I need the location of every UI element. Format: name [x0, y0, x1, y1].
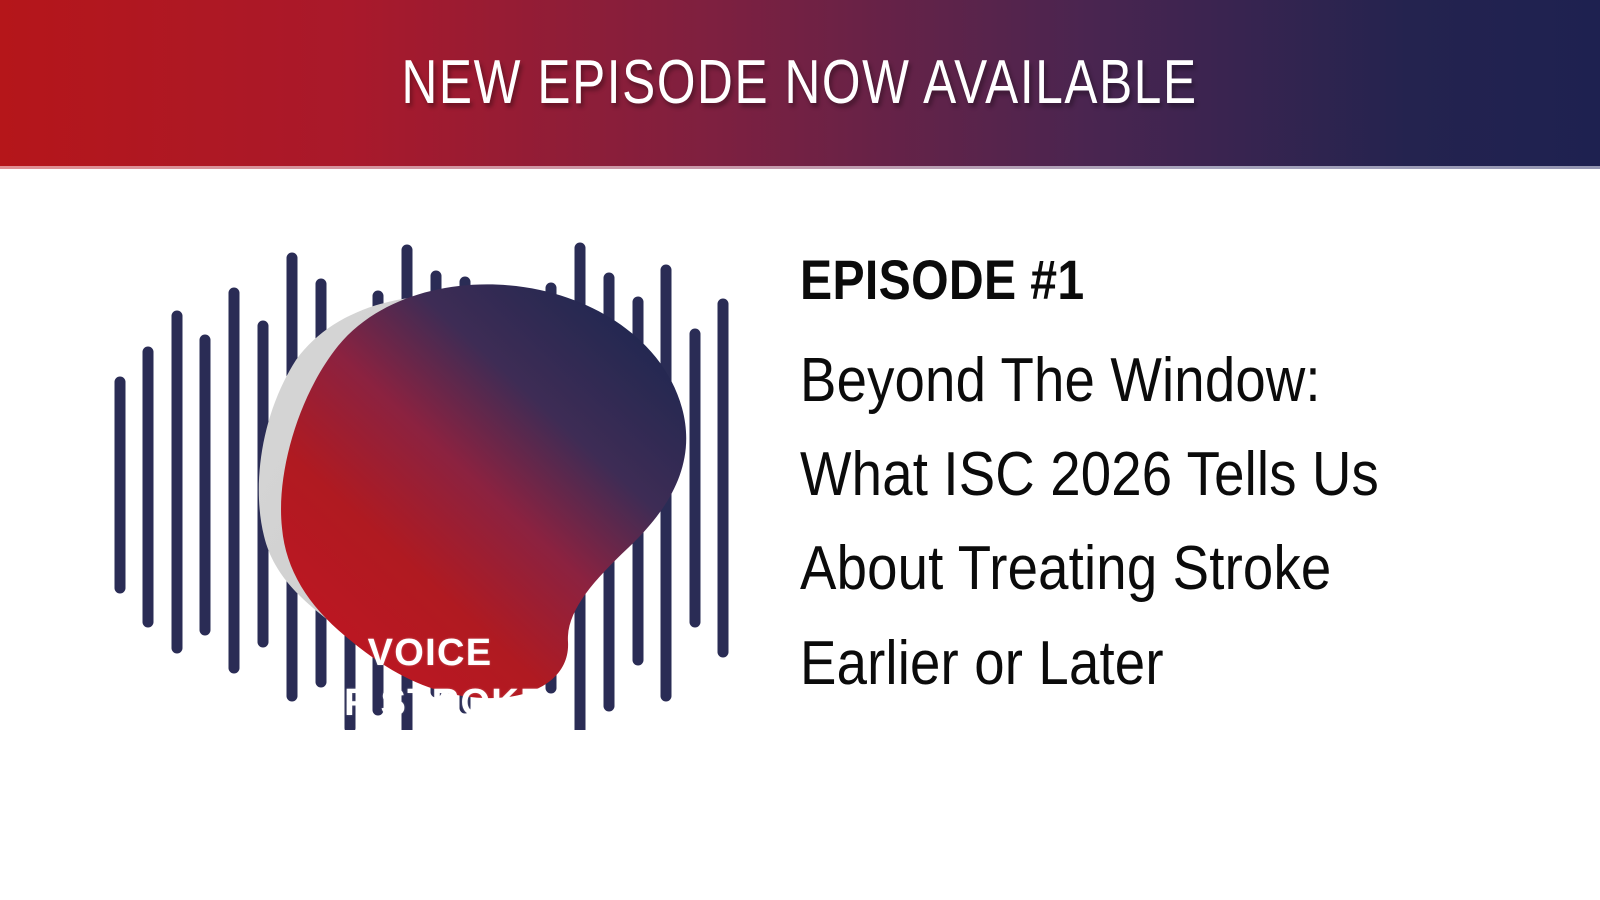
logo-main-blob: [281, 284, 686, 698]
episode-title: Beyond The Window: What ISC 2026 Tells U…: [800, 334, 1451, 711]
episode-title-line-4: Earlier or Later: [800, 617, 1451, 711]
podcast-logo-artwork: VOICE OF STROKE PODCAST: [100, 230, 740, 730]
episode-number: EPISODE #1: [800, 252, 1436, 308]
banner-headline: NEW EPISODE NOW AVAILABLE: [402, 52, 1198, 114]
episode-title-line-3: About Treating Stroke: [800, 522, 1451, 616]
banner-underline-divider: [0, 166, 1600, 169]
episode-title-line-2: What ISC 2026 Tells Us: [800, 428, 1451, 522]
episode-title-line-1: Beyond The Window:: [800, 334, 1451, 428]
episode-info-block: EPISODE #1 Beyond The Window: What ISC 2…: [800, 252, 1540, 711]
announcement-banner: NEW EPISODE NOW AVAILABLE: [0, 0, 1600, 166]
logo-wordmark-line-3: PODCAST: [280, 728, 580, 778]
podcast-promo-card: NEW EPISODE NOW AVAILABLE: [0, 0, 1600, 900]
